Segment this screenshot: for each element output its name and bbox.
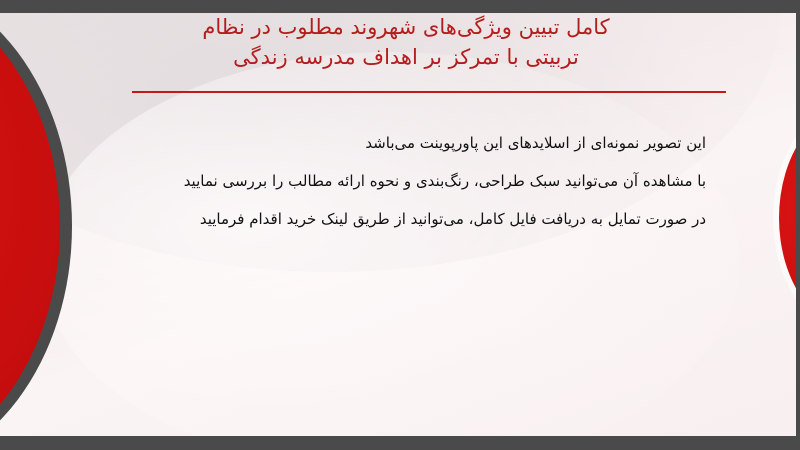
presentation-slide: کامل تبیین ویژگی‌های شهروند مطلوب در نظا… [0, 0, 800, 450]
slide-title: کامل تبیین ویژگی‌های شهروند مطلوب در نظا… [96, 12, 716, 72]
title-line-1: کامل تبیین ویژگی‌های شهروند مطلوب در نظا… [96, 12, 716, 42]
slide-content: کامل تبیین ویژگی‌های شهروند مطلوب در نظا… [0, 12, 796, 436]
title-underline-rule [132, 91, 726, 93]
body-line-1: این تصویر نمونه‌ای از اسلایدهای این پاور… [66, 124, 706, 162]
frame-bottom-band [0, 436, 800, 450]
frame-right-band [796, 0, 800, 450]
body-line-3: در صورت تمایل به دریافت فایل کامل، می‌تو… [66, 200, 706, 238]
title-line-2: تربیتی با تمرکز بر اهداف مدرسه زندگی [96, 42, 716, 72]
body-line-2: با مشاهده آن می‌توانید سبک طراحی، رنگ‌بن… [66, 162, 706, 200]
slide-body-text: این تصویر نمونه‌ای از اسلایدهای این پاور… [66, 124, 706, 238]
